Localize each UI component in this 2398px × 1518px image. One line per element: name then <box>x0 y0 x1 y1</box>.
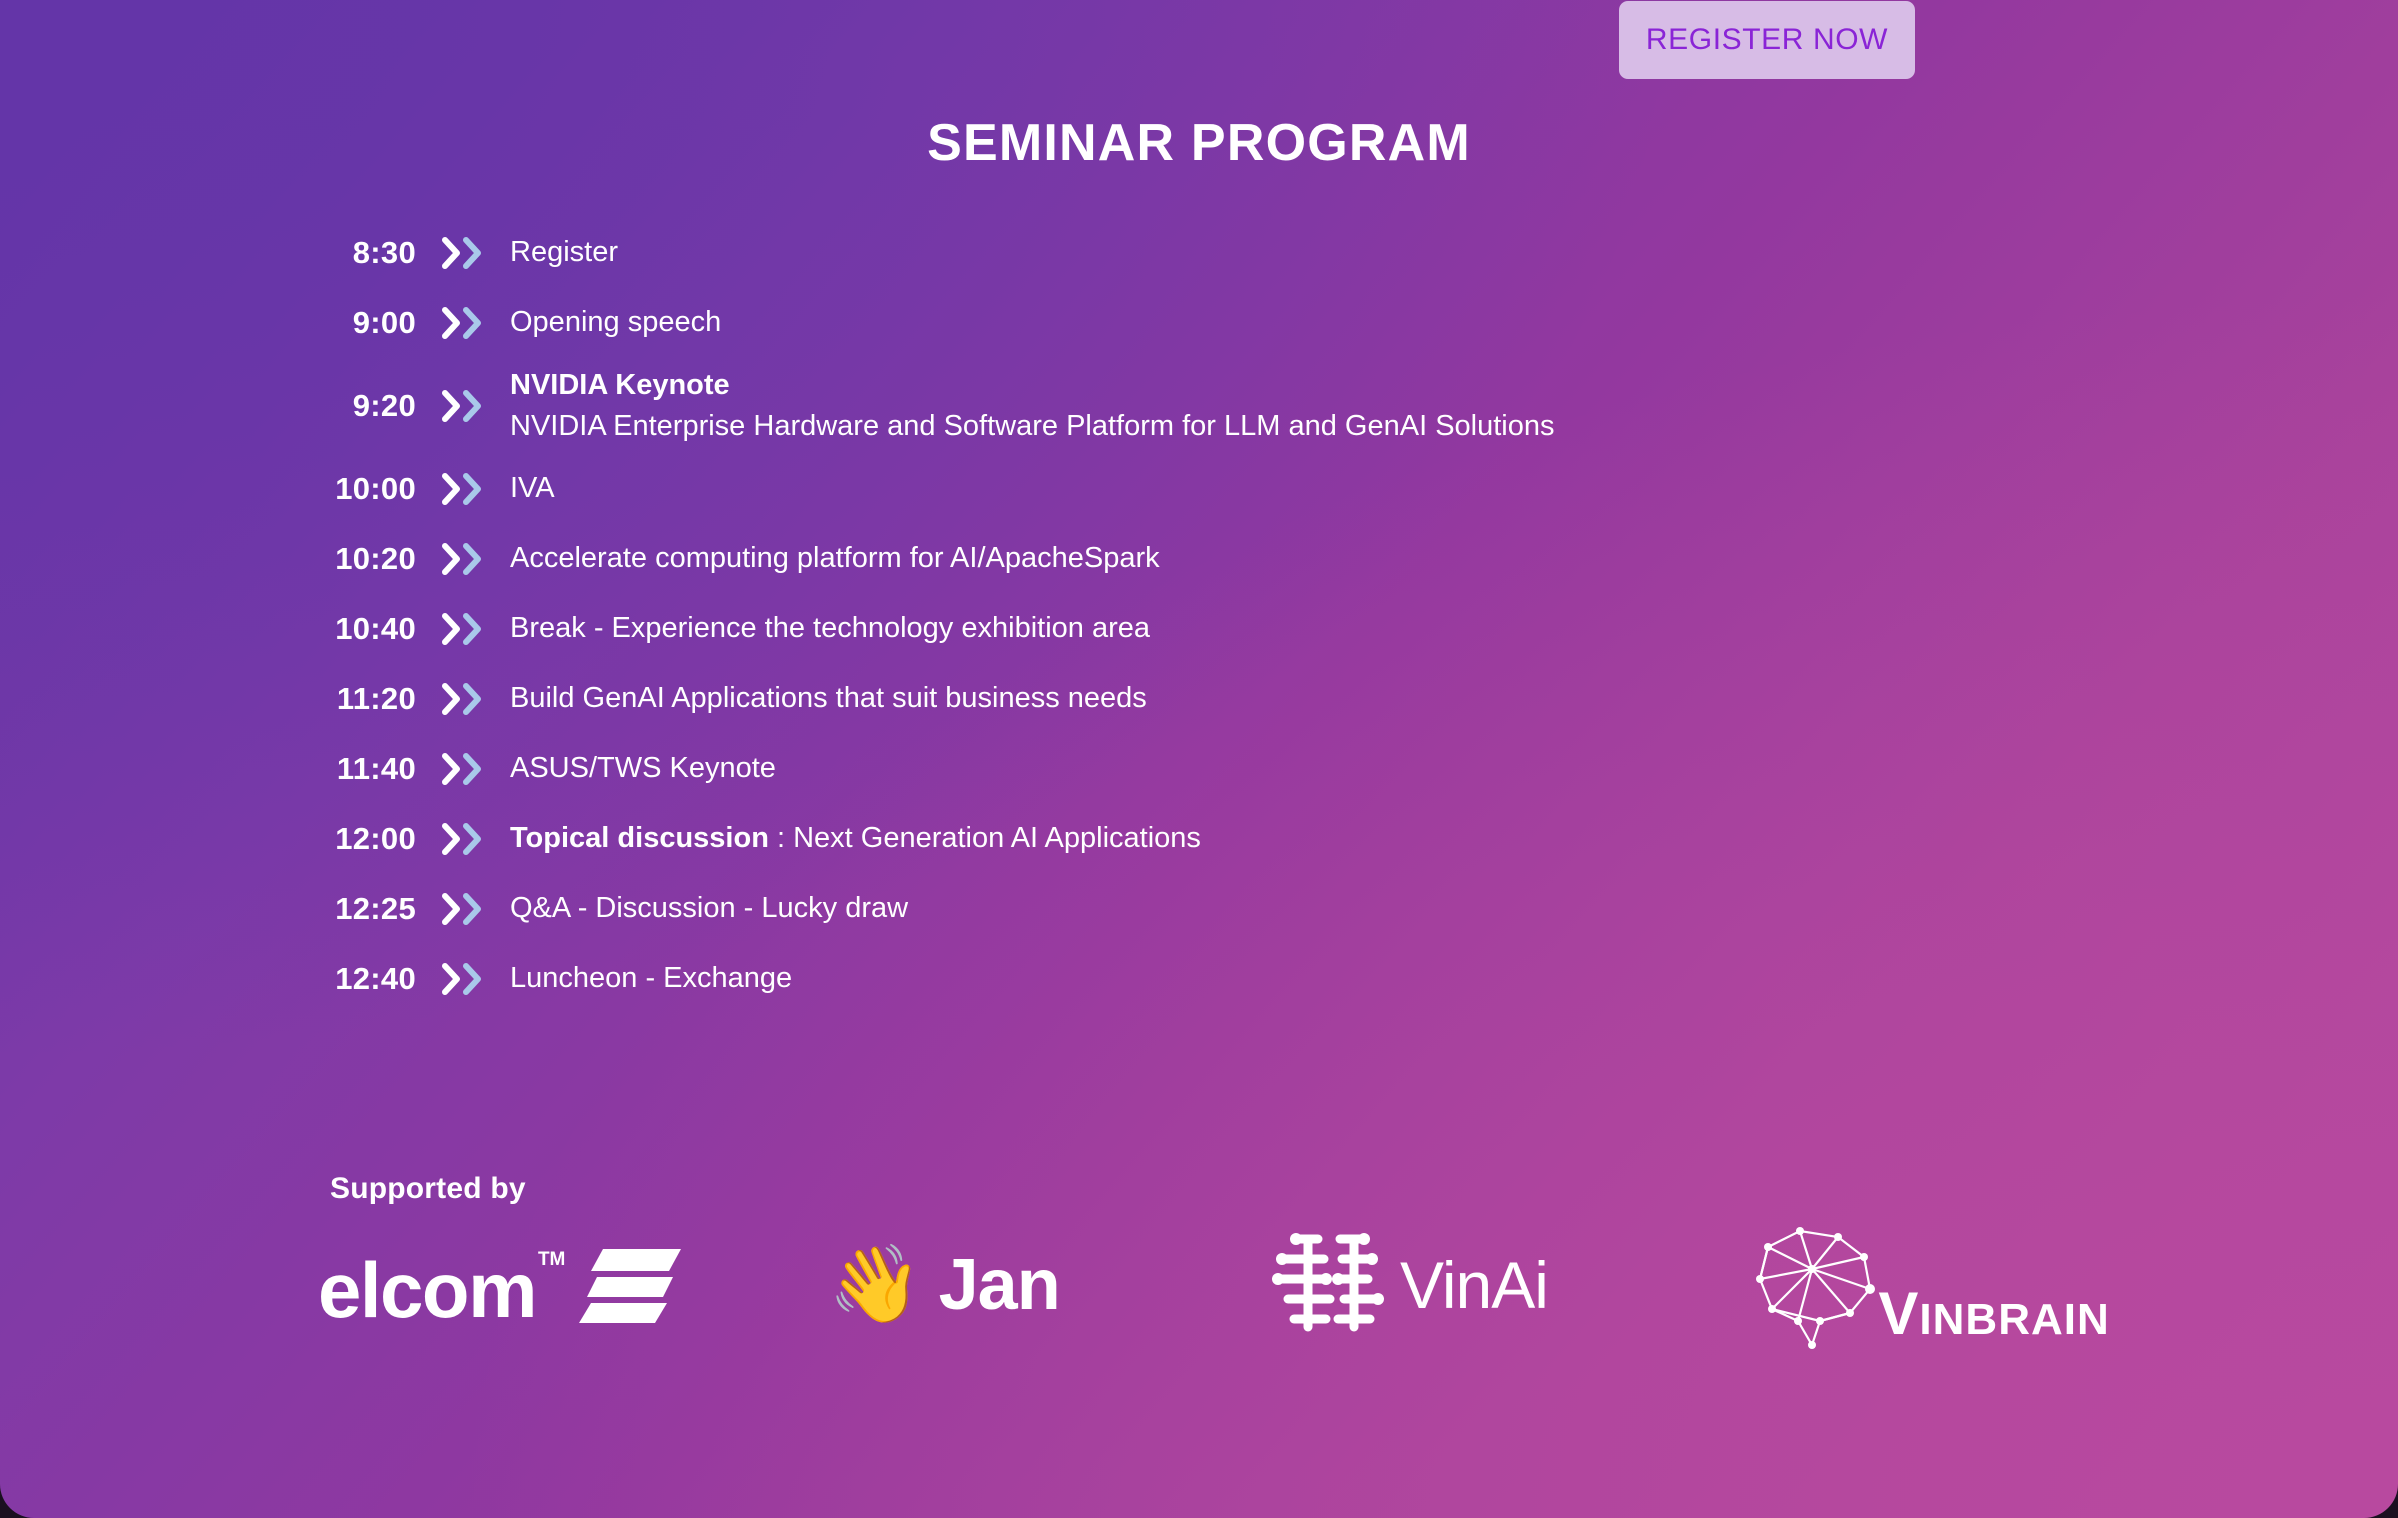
agenda-row: 9:20 NVIDIA Keynote NVIDIA Enterprise Ha… <box>0 358 2398 454</box>
agenda-text: IVA <box>508 468 555 509</box>
chevron-right-icon-back <box>463 683 483 715</box>
agenda-row: 12:25 Q&A - Discussion - Lucky draw <box>0 874 2398 944</box>
agenda-subtitle: NVIDIA Enterprise Hardware and Software … <box>510 406 1555 447</box>
agenda-title: IVA <box>510 472 555 504</box>
vinbrain-wordmark: VINBRAIN <box>1878 1279 2109 1348</box>
vinai-circuit-mark-icon <box>1268 1227 1388 1344</box>
agenda-text: Opening speech <box>508 302 721 343</box>
agenda-title: NVIDIA Keynote <box>510 365 1555 406</box>
chevron-right-icon-back <box>463 613 483 645</box>
double-chevron-right-icon <box>416 473 508 505</box>
double-chevron-right-icon <box>416 823 508 855</box>
agenda-time: 12:40 <box>236 961 416 997</box>
agenda-title: Accelerate computing platform for AI/Apa… <box>510 542 1160 574</box>
chevron-right-icon-back <box>463 473 483 505</box>
supported-by-label: Supported by <box>330 1172 526 1206</box>
page-title: SEMINAR PROGRAM <box>0 113 2398 173</box>
chevron-right-icon-front <box>442 307 462 339</box>
agenda-title: Register <box>510 236 618 268</box>
agenda-row: 11:20 Build GenAI Applications that suit… <box>0 664 2398 734</box>
agenda-time: 10:00 <box>236 471 416 507</box>
sponsor-logo-strip: elcom TM 👋 Jan <box>300 1215 2160 1355</box>
agenda-text: Break - Experience the technology exhibi… <box>508 608 1150 649</box>
agenda-row: 12:00 Topical discussion : Next Generati… <box>0 804 2398 874</box>
chevron-right-icon-back <box>463 390 483 422</box>
seminar-program-slide: REGISTER NOW SEMINAR PROGRAM 8:30 Regist… <box>0 0 2398 1518</box>
sponsor-logo-vinbrain: VINBRAIN <box>1728 1215 2160 1355</box>
agenda-title: Opening speech <box>510 306 721 338</box>
agenda-row: 10:40 Break - Experience the technology … <box>0 594 2398 664</box>
agenda-time: 12:00 <box>236 821 416 857</box>
chevron-right-icon-front <box>442 963 462 995</box>
agenda-text: ASUS/TWS Keynote <box>508 748 776 789</box>
double-chevron-right-icon <box>416 390 508 422</box>
sponsor-logo-vinai: VinAi <box>1250 1215 1728 1355</box>
chevron-right-icon-front <box>442 893 462 925</box>
agenda-row: 10:20 Accelerate computing platform for … <box>0 524 2398 594</box>
vinbrain-rest: INBRAIN <box>1919 1295 2109 1344</box>
chevron-right-icon-front <box>442 473 462 505</box>
agenda-title: Break - Experience the technology exhibi… <box>510 612 1150 644</box>
agenda-title: Build GenAI Applications that suit busin… <box>510 682 1147 714</box>
double-chevron-right-icon <box>416 613 508 645</box>
agenda-text: NVIDIA Keynote NVIDIA Enterprise Hardwar… <box>508 365 1555 447</box>
agenda-title: Q&A - Discussion - Lucky draw <box>510 892 908 924</box>
chevron-right-icon-back <box>463 893 483 925</box>
chevron-right-icon-back <box>463 307 483 339</box>
agenda-title: Topical discussion <box>510 822 769 854</box>
agenda-row: 10:00 IVA <box>0 454 2398 524</box>
sponsor-logo-jan: 👋 Jan <box>788 1215 1250 1355</box>
chevron-right-icon-back <box>463 543 483 575</box>
double-chevron-right-icon <box>416 307 508 339</box>
chevron-right-icon-front <box>442 823 462 855</box>
sponsor-logo-elcom: elcom TM <box>300 1215 788 1355</box>
chevron-right-icon-front <box>442 753 462 785</box>
double-chevron-right-icon <box>416 753 508 785</box>
double-chevron-right-icon <box>416 683 508 715</box>
chevron-right-icon-front <box>442 237 462 269</box>
chevron-right-icon-back <box>463 823 483 855</box>
elcom-e-mark-icon <box>573 1243 685 1328</box>
chevron-right-icon-back <box>463 753 483 785</box>
elcom-wordmark: elcom <box>318 1253 536 1327</box>
chevron-right-icon-back <box>463 963 483 995</box>
agenda-row: 11:40 ASUS/TWS Keynote <box>0 734 2398 804</box>
agenda-time: 8:30 <box>236 235 416 271</box>
agenda-time: 11:40 <box>236 751 416 787</box>
agenda-subtitle: : Next Generation AI Applications <box>769 822 1201 854</box>
trademark-icon: TM <box>538 1249 565 1271</box>
agenda-row: 8:30 Register <box>0 218 2398 288</box>
double-chevron-right-icon <box>416 543 508 575</box>
chevron-right-icon-front <box>442 613 462 645</box>
agenda-row: 12:40 Luncheon - Exchange <box>0 944 2398 1014</box>
agenda-list: 8:30 Register 9:00 Opening speech 9:20 <box>0 218 2398 1014</box>
agenda-time: 10:40 <box>236 611 416 647</box>
agenda-text: Accelerate computing platform for AI/Apa… <box>508 538 1160 579</box>
agenda-time: 10:20 <box>236 541 416 577</box>
chevron-right-icon-front <box>442 543 462 575</box>
agenda-text: Build GenAI Applications that suit busin… <box>508 678 1147 719</box>
agenda-time: 9:20 <box>236 388 416 424</box>
double-chevron-right-icon <box>416 963 508 995</box>
vinbrain-initial: V <box>1878 1280 1919 1347</box>
agenda-title: ASUS/TWS Keynote <box>510 752 776 784</box>
agenda-text: Q&A - Discussion - Lucky draw <box>508 888 908 929</box>
agenda-text: Luncheon - Exchange <box>508 958 792 999</box>
agenda-text: Topical discussion : Next Generation AI … <box>508 818 1201 859</box>
waving-hand-icon: 👋 <box>828 1247 923 1323</box>
chevron-right-icon-front <box>442 390 462 422</box>
agenda-text: Register <box>508 232 618 273</box>
register-now-button[interactable]: REGISTER NOW <box>1619 1 1915 79</box>
chevron-right-icon-back <box>463 237 483 269</box>
agenda-time: 9:00 <box>236 305 416 341</box>
double-chevron-right-icon <box>416 237 508 269</box>
agenda-time: 11:20 <box>236 681 416 717</box>
agenda-time: 12:25 <box>236 891 416 927</box>
agenda-title: Luncheon - Exchange <box>510 962 792 994</box>
jan-wordmark: Jan <box>939 1244 1060 1326</box>
chevron-right-icon-front <box>442 683 462 715</box>
vinai-wordmark: VinAi <box>1400 1247 1548 1323</box>
double-chevron-right-icon <box>416 893 508 925</box>
agenda-row: 9:00 Opening speech <box>0 288 2398 358</box>
